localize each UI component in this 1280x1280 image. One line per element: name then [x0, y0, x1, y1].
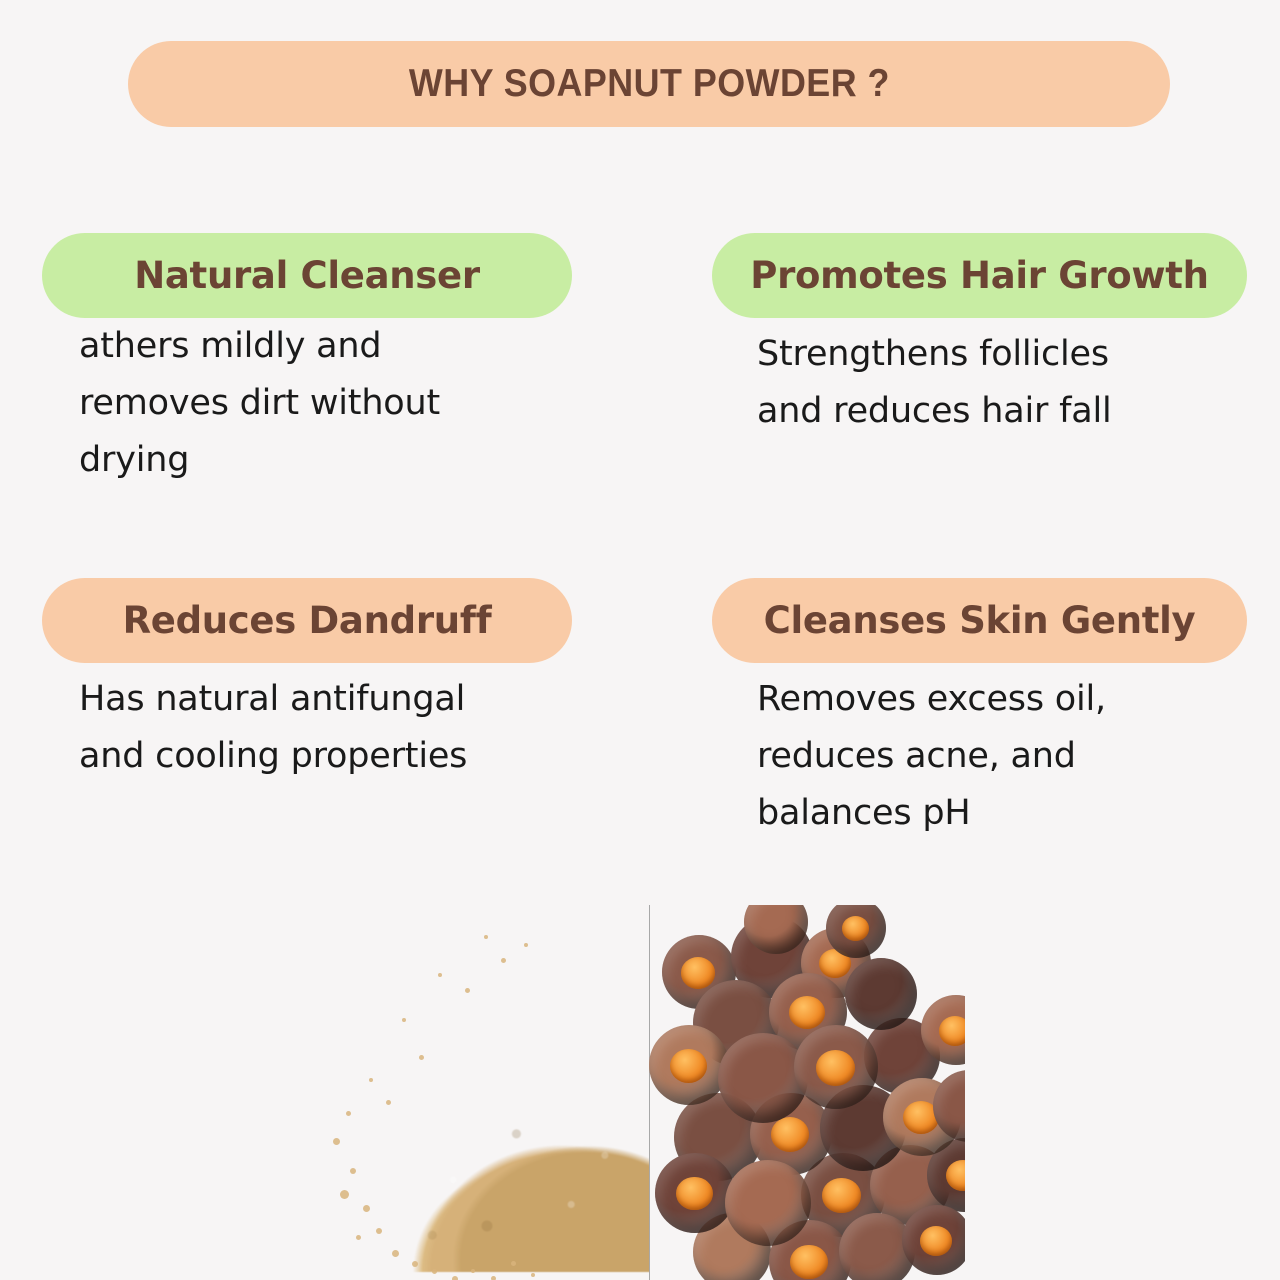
powder-grain	[491, 1276, 496, 1280]
powder-grain	[419, 1055, 424, 1060]
photo-divider-line	[649, 905, 651, 1280]
powder-grain	[531, 1273, 535, 1277]
powder-grain	[484, 935, 488, 939]
benefit-body-cleanses-skin-gently: Removes excess oil, reduces acne, and ba…	[712, 671, 1247, 842]
powder-grain	[340, 1190, 349, 1199]
benefit-body-line: removes dirt without	[79, 375, 572, 432]
powder-grain	[501, 958, 506, 963]
soapnut-berry	[649, 1025, 729, 1105]
powder-grain	[524, 943, 528, 947]
benefit-title-promotes-hair-growth: Promotes Hair Growth	[750, 254, 1208, 297]
soapnut-berry	[655, 1153, 735, 1233]
benefit-pill-natural-cleanser: Natural Cleanser	[42, 233, 572, 318]
powder-texture	[327, 965, 649, 1273]
powder-grain	[465, 988, 470, 993]
benefit-title-natural-cleanser: Natural Cleanser	[134, 254, 480, 297]
berry-seed-opening	[789, 996, 825, 1029]
benefit-card-reduces-dandruff: Reduces Dandruff Has natural antifungal …	[42, 578, 572, 785]
berry-seed-opening	[670, 1049, 707, 1083]
powder-grain	[363, 1205, 370, 1212]
powder-grain	[402, 1018, 406, 1022]
berry-seed-opening	[676, 1177, 713, 1211]
powder-grain	[376, 1228, 382, 1234]
product-photo-berries-half	[649, 905, 965, 1280]
powder-grain	[386, 1100, 391, 1105]
soapnut-berry	[725, 1160, 811, 1246]
powder-grain	[350, 1168, 356, 1174]
benefit-body-line: and reduces hair fall	[757, 383, 1247, 440]
powder-grain	[452, 1276, 458, 1280]
powder-grain	[333, 1138, 340, 1145]
berry-seed-opening	[771, 1117, 809, 1152]
powder-grain	[471, 1269, 475, 1273]
powder-grain	[432, 1269, 437, 1274]
benefit-body-line: balances pH	[757, 785, 1247, 842]
benefit-body-promotes-hair-growth: Strengthens follicles and reduces hair f…	[712, 326, 1247, 440]
benefit-card-cleanses-skin-gently: Cleanses Skin Gently Removes excess oil,…	[712, 578, 1247, 842]
berry-seed-opening	[939, 1016, 965, 1046]
berry-seed-opening	[790, 1245, 828, 1280]
benefit-body-line: athers mildly and	[79, 318, 572, 375]
berry-seed-opening	[842, 916, 870, 941]
soapnut-berry	[845, 958, 917, 1030]
benefit-card-promotes-hair-growth: Promotes Hair Growth Strengthens follicl…	[712, 233, 1247, 440]
benefit-card-natural-cleanser: Natural Cleanser L athers mildly and rem…	[42, 233, 572, 489]
benefit-pill-reduces-dandruff: Reduces Dandruff	[42, 578, 572, 663]
soapnut-powder-mound	[327, 965, 649, 1273]
soapnut-berry	[826, 905, 886, 958]
berry-seed-opening	[920, 1226, 952, 1256]
berry-seed-opening	[822, 1178, 861, 1214]
benefit-body-line: Has natural antifungal	[79, 671, 572, 728]
soapnut-berry	[902, 1205, 965, 1275]
benefit-body-line: drying	[79, 432, 572, 489]
product-photo	[320, 905, 965, 1280]
benefit-body-line: reduces acne, and	[757, 728, 1247, 785]
benefit-pill-promotes-hair-growth: Promotes Hair Growth	[712, 233, 1247, 318]
berry-seed-opening	[681, 957, 715, 988]
powder-grain	[369, 1078, 373, 1082]
benefit-body-line: Removes excess oil,	[757, 671, 1247, 728]
soapnut-berry	[794, 1025, 878, 1109]
benefit-body-reduces-dandruff: Has natural antifungal and cooling prope…	[42, 671, 572, 785]
berry-seed-opening	[816, 1050, 855, 1086]
product-photo-powder-half	[320, 905, 649, 1280]
benefit-body-line: and cooling properties	[79, 728, 572, 785]
benefit-pill-cleanses-skin-gently: Cleanses Skin Gently	[712, 578, 1247, 663]
benefit-body-line: Strengthens follicles	[757, 326, 1247, 383]
benefit-title-reduces-dandruff: Reduces Dandruff	[123, 599, 492, 642]
benefit-title-cleanses-skin-gently: Cleanses Skin Gently	[764, 599, 1196, 642]
berry-seed-opening	[946, 1160, 965, 1191]
